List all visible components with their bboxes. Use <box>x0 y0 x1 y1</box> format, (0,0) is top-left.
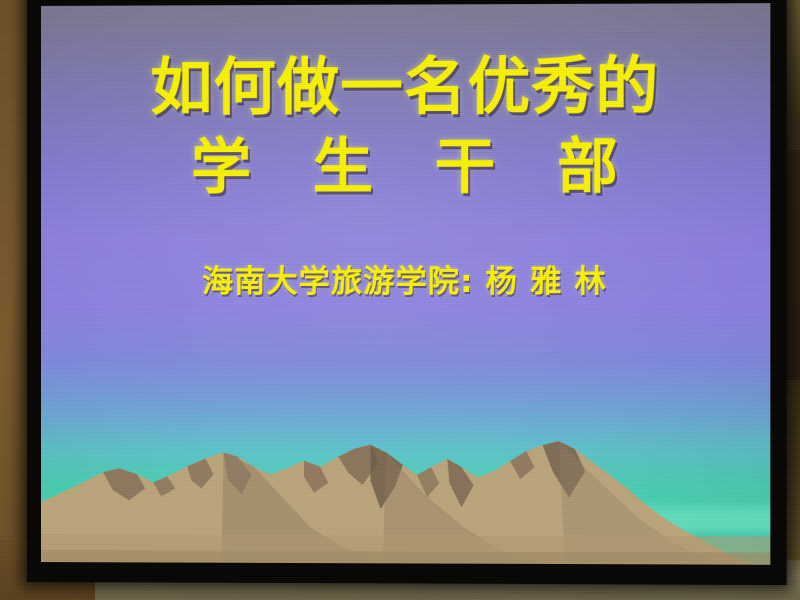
slide-subtitle-presenter: 海南大学旅游学院: 杨 雅 林 <box>41 256 770 301</box>
presentation-slide: 如何做一名优秀的 学 生 干 部 海南大学旅游学院: 杨 雅 林 <box>41 3 770 565</box>
projection-screen-frame: 如何做一名优秀的 学 生 干 部 海南大学旅游学院: 杨 雅 林 <box>27 0 787 585</box>
slide-title-line-2: 学 生 干 部 <box>41 126 770 208</box>
room-photograph: 如何做一名优秀的 学 生 干 部 海南大学旅游学院: 杨 雅 林 <box>0 0 800 600</box>
mountain-range-graphic <box>41 422 770 565</box>
slide-title-line-1: 如何做一名优秀的 <box>41 46 770 128</box>
slide-text-block: 如何做一名优秀的 学 生 干 部 海南大学旅游学院: 杨 雅 林 <box>41 46 770 302</box>
